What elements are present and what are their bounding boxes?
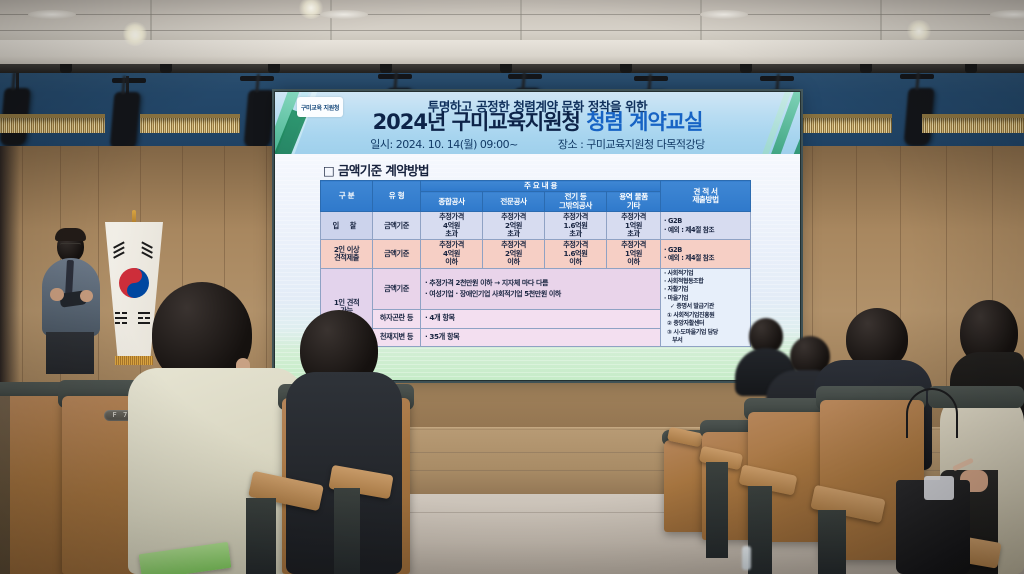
curtain-fringe bbox=[0, 118, 105, 133]
th-general-construction: 종합공사 bbox=[421, 192, 483, 212]
row-quote-c1: 추정가격 4억원 이하 bbox=[421, 240, 483, 268]
th-submit-method-l2: 제출방법 bbox=[662, 196, 749, 204]
row-sole-detail-1-l1: · 추정가격 2천만원 이하 → 지자체 마다 다름 bbox=[425, 278, 659, 289]
row-bid-method: · G2B · 예외 : 제4절 참조 bbox=[661, 212, 751, 240]
table-header-row-1: 구 분 유 형 주 요 내 용 견 적 서 제출방법 bbox=[321, 181, 751, 192]
taeguk-symbol bbox=[119, 268, 149, 298]
th-type: 유 형 bbox=[373, 181, 421, 212]
th-main-content: 주 요 내 용 bbox=[421, 181, 661, 192]
th-service-goods: 용역 물품 기타 bbox=[607, 192, 661, 212]
stage-light bbox=[109, 92, 140, 150]
row-bid-c3: 추정가격 1.6억원 초과 bbox=[545, 212, 607, 240]
slide-title-main: 2024년 구미교육지원청 bbox=[373, 110, 587, 134]
row-sole-detail-1: · 추정가격 2천만원 이하 → 지자체 마다 다름 · 여성기업 · 장애인기… bbox=[421, 268, 661, 309]
row-bid-gubun: 입 찰 bbox=[321, 212, 373, 240]
slide-meta: 일시: 2024. 10. 14(월) 09:00~ 장소 : 구미교육지원청 … bbox=[275, 136, 800, 152]
slide-title-highlight: 청렴 계약교실 bbox=[586, 110, 702, 134]
row-sole-detail-1-l2: · 여성기업 · 장애인기업 사회적기업 5천만원 이하 bbox=[425, 289, 659, 300]
row-quote-gubun: 2인 이상 견적제출 bbox=[321, 240, 373, 268]
curtain-fringe bbox=[922, 118, 1024, 133]
slide-banner: 구미교육 지원청 투명하고 공정한 청렴계약 문화 정착을 위한 2024년 구… bbox=[275, 92, 800, 154]
th-specialty-construction: 전문공사 bbox=[483, 192, 545, 212]
row-bid-c4: 추정가격 1억원 초과 bbox=[607, 212, 661, 240]
method-item: 부서 bbox=[664, 337, 749, 345]
flag-fringe bbox=[115, 356, 153, 365]
bag-strap bbox=[906, 388, 958, 438]
slide-date: 일시: 2024. 10. 14(월) 09:00~ bbox=[370, 136, 518, 152]
row-sole-type-2: 하자곤란 등 bbox=[373, 309, 421, 328]
th-service-l2: 기타 bbox=[608, 202, 659, 210]
row-quote-method: · G2B · 예외 : 제4절 참조 bbox=[661, 240, 751, 268]
curtain-fringe bbox=[792, 118, 892, 133]
bag-item bbox=[924, 476, 954, 500]
slide-title: 2024년 구미교육지원청 청렴 계약교실 bbox=[275, 110, 800, 134]
water-bottle bbox=[742, 546, 751, 570]
method-item: ✓ 증명서 발급기관 bbox=[664, 303, 749, 311]
row-bid-c2: 추정가격 2억원 초과 bbox=[483, 212, 545, 240]
th-submit-method: 견 적 서 제출방법 bbox=[661, 181, 751, 212]
row-sole-method: · 사회적기업 · 사회적협동조합 · 자활기업 · 마을기업 ✓ 증명서 발급… bbox=[661, 268, 751, 347]
row-sole-detail-2: · 4개 항목 bbox=[421, 309, 661, 328]
row-sole-detail-3: · 35개 항목 bbox=[421, 328, 661, 347]
table-row: 1인 견적 가능 금액기준 · 추정가격 2천만원 이하 → 지자체 마다 다름… bbox=[321, 268, 751, 309]
table-row: 입 찰 금액기준 추정가격 4억원 초과 추정가격 2억원 초과 추정가격 1.… bbox=[321, 212, 751, 240]
stage-light bbox=[243, 90, 274, 148]
method-item: ③ 시·도마을기업 담당 bbox=[664, 329, 749, 337]
row-quote-type: 금액기준 bbox=[373, 240, 421, 268]
auditorium-photo: 구미교육 지원청 투명하고 공정한 청렴계약 문화 정착을 위한 2024년 구… bbox=[0, 0, 1024, 574]
table-row: 2인 이상 견적제출 금액기준 추정가격 4억원 이하 추정가격 2억원 이하 … bbox=[321, 240, 751, 268]
row-quote-c2: 추정가격 2억원 이하 bbox=[483, 240, 545, 268]
curtain-fringe bbox=[140, 118, 240, 133]
th-gubun: 구 분 bbox=[321, 181, 373, 212]
ceiling bbox=[0, 0, 1024, 44]
row-quote-c3: 추정가격 1.6억원 이하 bbox=[545, 240, 607, 268]
method-item: · 자활기업 bbox=[664, 286, 749, 294]
row-sole-type-1: 금액기준 bbox=[373, 268, 421, 309]
row-quote-c4: 추정가격 1억원 이하 bbox=[607, 240, 661, 268]
method-item: ① 사회적기업진흥원 bbox=[664, 312, 749, 320]
contract-method-table: 구 분 유 형 주 요 내 용 견 적 서 제출방법 종합공사 전문공사 전기 … bbox=[320, 180, 751, 347]
th-electrical-other: 전기 등 그밖의공사 bbox=[545, 192, 607, 212]
method-item: ② 중앙자활센터 bbox=[664, 320, 749, 328]
th-electrical-l2: 그밖의공사 bbox=[546, 202, 605, 210]
row-sole-type-3: 천재지변 등 bbox=[373, 328, 421, 347]
slide-section-heading: □ 금액기준 계약방법 bbox=[323, 160, 429, 179]
row-bid-type: 금액기준 bbox=[373, 212, 421, 240]
row-bid-c1: 추정가격 4억원 초과 bbox=[421, 212, 483, 240]
method-item: · 사회적기업 bbox=[664, 270, 749, 278]
slide-place: 장소 : 구미교육지원청 다목적강당 bbox=[558, 136, 705, 152]
